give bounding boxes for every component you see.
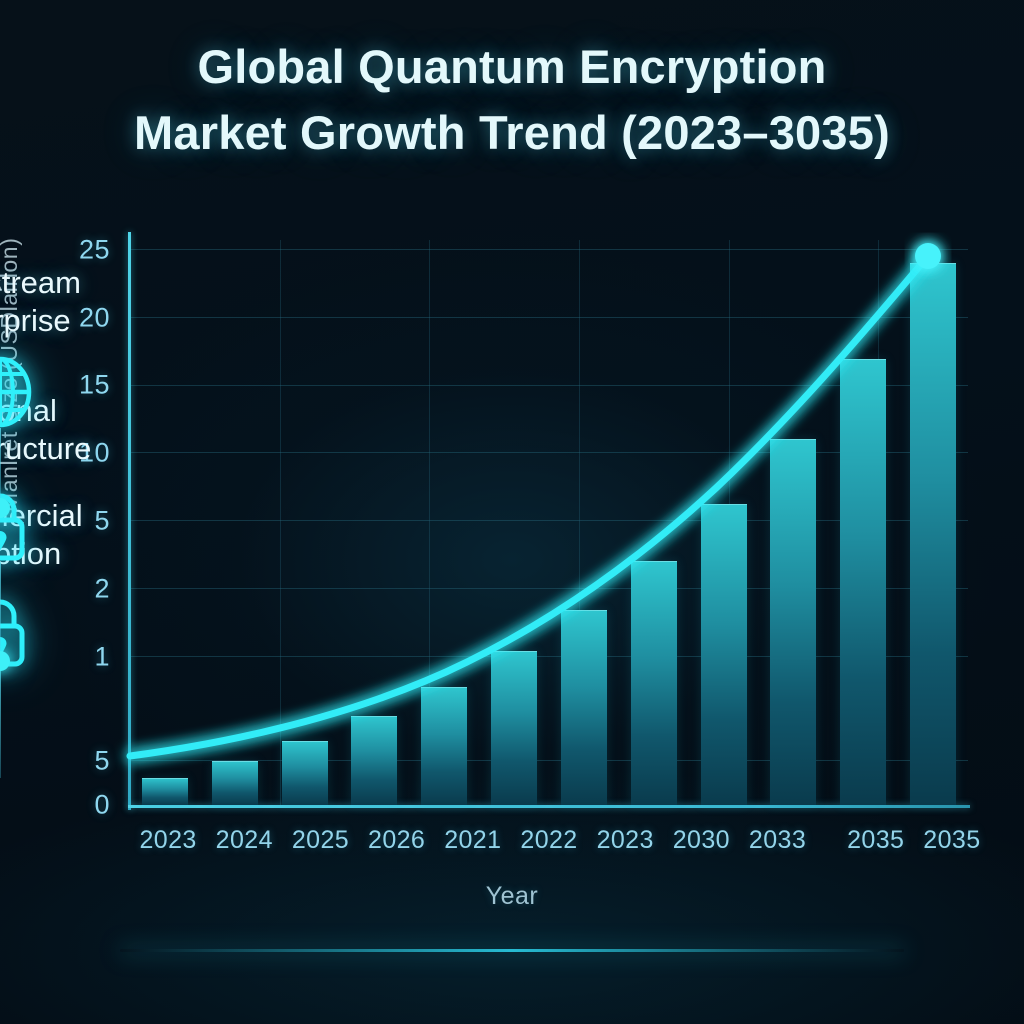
y-tick-label: 2 (94, 573, 110, 604)
annotation-label: MainstreamEnterprise (0, 264, 81, 340)
title-line-1: Global Quantum Encryption (0, 34, 1024, 100)
globe-icon (0, 355, 34, 434)
annotation-connector-line (0, 668, 1, 778)
annotation-line-2: Infrastructure (0, 431, 91, 466)
x-tick-label: 2035 (847, 826, 904, 855)
chart-canvas: Global Quantum Encryption Market Growth … (0, 0, 1024, 1024)
x-tick-label: 2023 (139, 826, 196, 855)
annotation-line-2: Enterprise (0, 303, 71, 338)
y-tick-label: 5 (94, 746, 110, 777)
plot-area (130, 240, 968, 805)
x-tick-label: 2026 (368, 826, 425, 855)
decorative-glow-line (120, 949, 904, 952)
x-axis-label: Year (0, 882, 1024, 911)
y-tick-label: 1 (94, 641, 110, 672)
x-tick-label: 2024 (216, 826, 273, 855)
annotation-line-1: Mainstream (0, 265, 81, 300)
trend-end-marker (915, 243, 941, 269)
x-tick-label: 2022 (520, 826, 577, 855)
annotation-connector-line (0, 562, 1, 662)
page-title: Global Quantum Encryption Market Growth … (0, 34, 1024, 166)
x-tick-label: 2025 (292, 826, 349, 855)
trend-curve (130, 256, 928, 756)
x-axis-tick-labels: 2023202420252026202120222023203020332035… (130, 826, 968, 866)
x-tick-label: 2035 (923, 826, 980, 855)
x-tick-label: 2023 (597, 826, 654, 855)
title-line-2: Market Growth Trend (2023–3035) (0, 100, 1024, 166)
x-tick-label: 2033 (749, 826, 806, 855)
y-tick-label: 20 (79, 302, 110, 333)
annotation-connector-line (0, 428, 1, 508)
x-tick-label: 2030 (673, 826, 730, 855)
y-tick-label: 25 (79, 234, 110, 265)
trend-line-series (116, 220, 996, 820)
y-tick-label: 0 (94, 790, 110, 821)
y-tick-label: 5 (94, 506, 110, 537)
x-tick-label: 2021 (444, 826, 501, 855)
